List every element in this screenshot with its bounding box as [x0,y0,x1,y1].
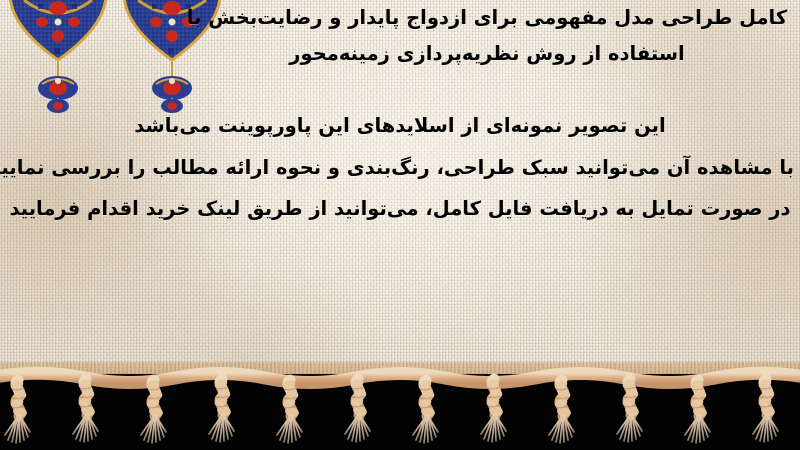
pendant-lower [47,98,69,113]
body-line-3: در صورت تمایل به دریافت فایل کامل، می‌تو… [6,199,794,219]
pendant-lower [161,98,183,113]
title-line-1: کامل طراحی مدل مفهومی برای ازدواج پایدار… [180,8,794,44]
slide-body: این تصویر نمونه‌ای از اسلایدهای این پاور… [6,116,794,219]
body-line-1: این تصویر نمونه‌ای از اسلایدهای این پاور… [6,116,794,158]
footer-black-field [0,374,800,450]
slide-canvas: کامل طراحی مدل مفهومی برای ازدواج پایدار… [0,0,800,450]
title-line-2: استفاده از روش نظریه‌پردازی زمینه‌محور [180,44,794,64]
medallion-body [8,0,108,62]
medallion-left-ornament [8,0,108,117]
pendant-upper [38,62,78,100]
body-line-2: با مشاهده آن می‌توانید سبک طراحی، رنگ‌بن… [6,158,794,200]
slide-title: کامل طراحی مدل مفهومی برای ازدواج پایدار… [180,8,794,63]
pendant-upper [152,62,192,100]
